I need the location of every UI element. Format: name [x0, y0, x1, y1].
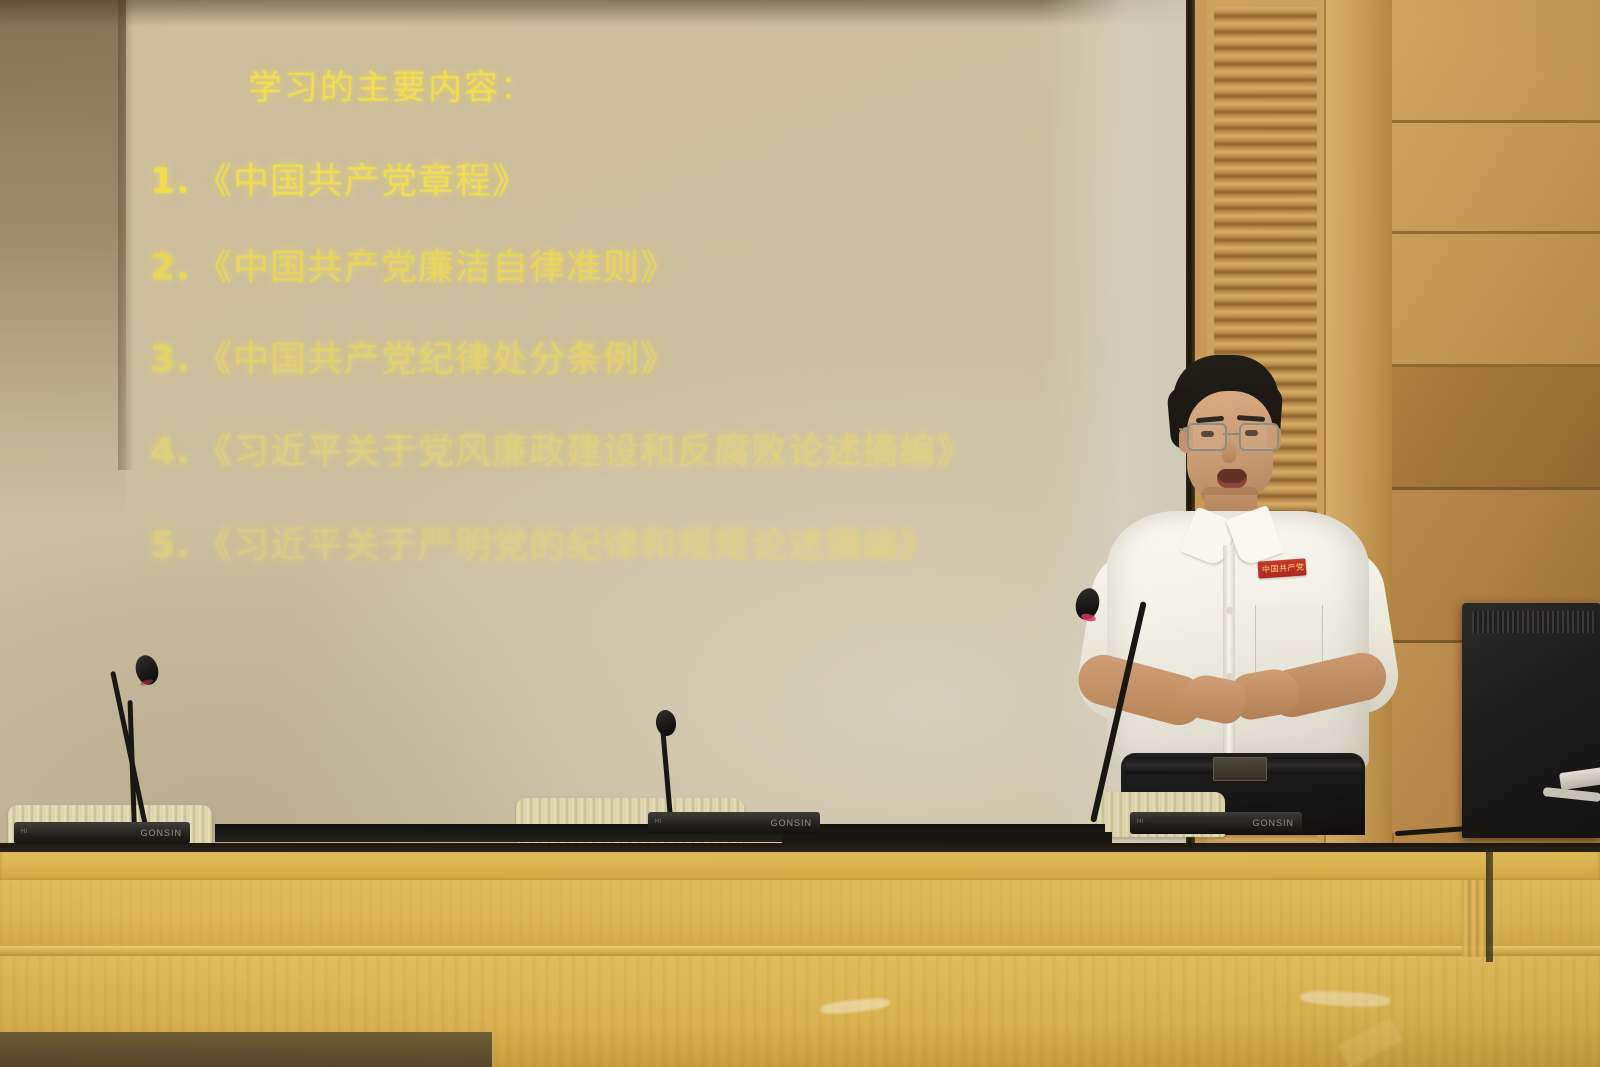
- slide-list-item: 4.《习近平关于党风廉政建设和反腐败论述摘编》: [150, 422, 973, 474]
- wood-panel: [1392, 367, 1600, 490]
- slide-list-item: 3.《中国共产党纪律处分条例》: [150, 330, 677, 382]
- glasses-bridge: [1223, 433, 1239, 435]
- name-badge: 中国共产党: [1257, 558, 1306, 578]
- glasses-lens: [1187, 423, 1227, 451]
- microphone-small-label: HI: [21, 829, 28, 835]
- slide-item-number: 5.: [150, 525, 196, 566]
- slide-item-number: 4.: [150, 431, 196, 472]
- shirt-button: [1226, 607, 1233, 614]
- microphone-brand-label: GONSIN: [770, 818, 812, 828]
- slide-list-item: 2.《中国共产党廉洁自律准则》: [150, 238, 677, 290]
- glasses-lens: [1239, 423, 1279, 451]
- microphone-base[interactable]: HI GONSIN: [648, 812, 820, 834]
- desk-vertical-edge: [1486, 852, 1493, 962]
- microphone-small-label: HI: [1137, 819, 1144, 825]
- shirt-placket: [1223, 545, 1235, 767]
- microphone-base[interactable]: HI GONSIN: [14, 822, 190, 844]
- mouth: [1217, 469, 1247, 488]
- slide-item-text: 《中国共产党章程》: [196, 161, 529, 202]
- wood-panel: [1392, 0, 1600, 123]
- slide-list-item: 1.《中国共产党章程》: [150, 152, 529, 204]
- monitor: [1462, 603, 1600, 838]
- slide-item-text: 《习近平关于党风廉政建设和反腐败论述摘编》: [196, 431, 973, 472]
- nose: [1222, 441, 1236, 463]
- photo-scene: 学习的主要内容： 1.《中国共产党章程》 2.《中国共产党廉洁自律准则》 3.《…: [0, 0, 1600, 1067]
- microphone-base[interactable]: HI GONSIN: [1130, 812, 1302, 834]
- microphone-brand-label: GONSIN: [1252, 818, 1294, 828]
- slide-list-item: 5.《习近平关于严明党的纪律和规矩论述摘编》: [150, 516, 936, 568]
- belt-buckle: [1213, 757, 1267, 781]
- microphone-small-label: HI: [655, 819, 662, 825]
- desk-front-panel: [0, 880, 1600, 952]
- microphone-brand-label: GONSIN: [140, 828, 182, 838]
- wood-panel: [1392, 234, 1600, 367]
- slide-item-number: 2.: [150, 247, 196, 288]
- slide-item-text: 《中国共产党廉洁自律准则》: [196, 247, 677, 288]
- slide-item-text: 《中国共产党纪律处分条例》: [196, 339, 677, 380]
- name-badge-text: 中国共产党: [1262, 561, 1305, 575]
- desk-kick-plate: [0, 1032, 492, 1067]
- slide-item-text: 《习近平关于严明党的纪律和规矩论述摘编》: [196, 525, 936, 566]
- wood-panel: [1392, 123, 1600, 234]
- monitor-vent: [1472, 611, 1597, 633]
- slide-title: 学习的主要内容：: [248, 60, 536, 109]
- slide-content: 学习的主要内容： 1.《中国共产党章程》 2.《中国共产党廉洁自律准则》 3.《…: [0, 0, 1192, 700]
- desk-top-surface: [0, 852, 1600, 882]
- slide-item-number: 1.: [150, 161, 196, 202]
- desk-end-cap: [1462, 880, 1486, 957]
- slide-item-number: 3.: [150, 339, 196, 380]
